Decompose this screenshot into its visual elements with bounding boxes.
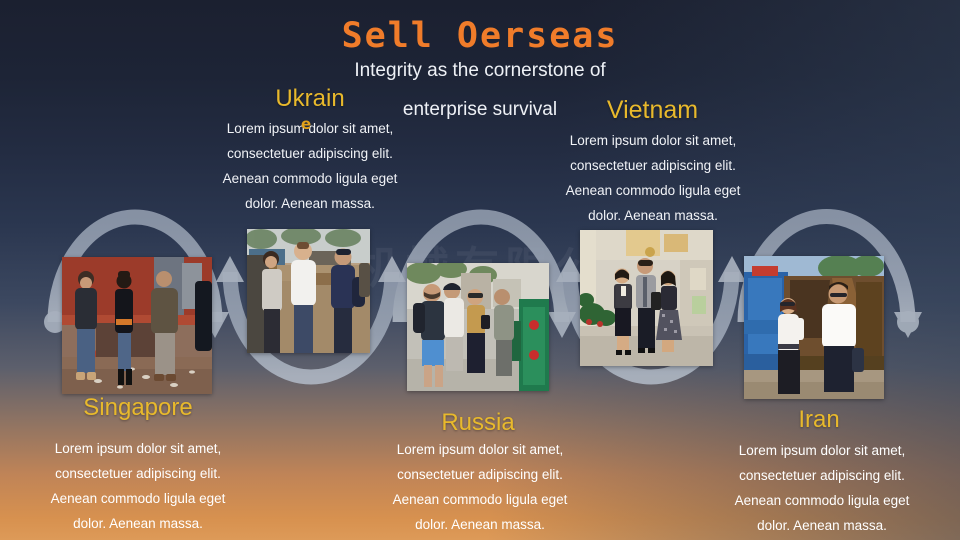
text-line: consectetuer adipiscing elit. bbox=[28, 461, 248, 486]
text-line: consectetuer adipiscing elit. bbox=[370, 462, 590, 487]
arrowhead-2a bbox=[216, 256, 244, 282]
text-line: dolor. Aenean massa. bbox=[712, 513, 932, 538]
photo-russia bbox=[407, 263, 549, 391]
text-line: Lorem ipsum dolor sit amet, bbox=[370, 437, 590, 462]
stray-glyph-artifact: e bbox=[301, 117, 311, 132]
text-line: consectetuer adipiscing elit. bbox=[548, 153, 758, 178]
arrowhead-2b bbox=[378, 256, 406, 282]
country-heading-russia: Russia bbox=[405, 409, 551, 437]
text-line: consectetuer adipiscing elit. bbox=[712, 463, 932, 488]
slide-canvas: 机械有限公 bbox=[0, 0, 960, 540]
arrowhead-3 bbox=[548, 312, 576, 338]
text-line: Aenean commodo ligula eget bbox=[210, 166, 410, 191]
text-line: Aenean commodo ligula eget bbox=[548, 178, 758, 203]
text-line: Lorem ipsum dolor sit amet, bbox=[712, 438, 932, 463]
text-line: dolor. Aenean massa. bbox=[28, 511, 248, 536]
arrowhead-4b bbox=[718, 256, 746, 282]
slide-title: Sell Oerseas bbox=[0, 16, 960, 56]
photo-vietnam bbox=[580, 230, 713, 366]
text-line: Aenean commodo ligula eget bbox=[28, 486, 248, 511]
country-text-singapore: Lorem ipsum dolor sit amet, consectetuer… bbox=[28, 436, 248, 536]
country-text-vietnam: Lorem ipsum dolor sit amet, consectetuer… bbox=[548, 128, 758, 228]
photo-ukrain bbox=[247, 229, 370, 353]
photo-iran bbox=[744, 256, 884, 399]
text-line: dolor. Aenean massa. bbox=[370, 512, 590, 537]
country-heading-ukrain: Ukrain bbox=[235, 85, 385, 113]
text-line: Lorem ipsum dolor sit amet, bbox=[28, 436, 248, 461]
chain-end-dot bbox=[897, 311, 919, 333]
text-line: Aenean commodo ligula eget bbox=[712, 488, 932, 513]
text-line: dolor. Aenean massa. bbox=[548, 203, 758, 228]
text-line: Aenean commodo ligula eget bbox=[370, 487, 590, 512]
slide-subtitle-line1: Integrity as the cornerstone of bbox=[270, 58, 690, 84]
photo-singapore bbox=[62, 257, 212, 394]
text-line: dolor. Aenean massa. bbox=[210, 191, 410, 216]
country-text-russia: Lorem ipsum dolor sit amet, consectetuer… bbox=[370, 437, 590, 537]
country-heading-singapore: Singapore bbox=[62, 394, 214, 422]
text-line: Lorem ipsum dolor sit amet, bbox=[548, 128, 758, 153]
country-heading-iran: Iran bbox=[748, 406, 890, 434]
text-line: consectetuer adipiscing elit. bbox=[210, 141, 410, 166]
country-heading-vietnam: Vietnam bbox=[570, 96, 735, 125]
country-text-iran: Lorem ipsum dolor sit amet, consectetuer… bbox=[712, 438, 932, 538]
